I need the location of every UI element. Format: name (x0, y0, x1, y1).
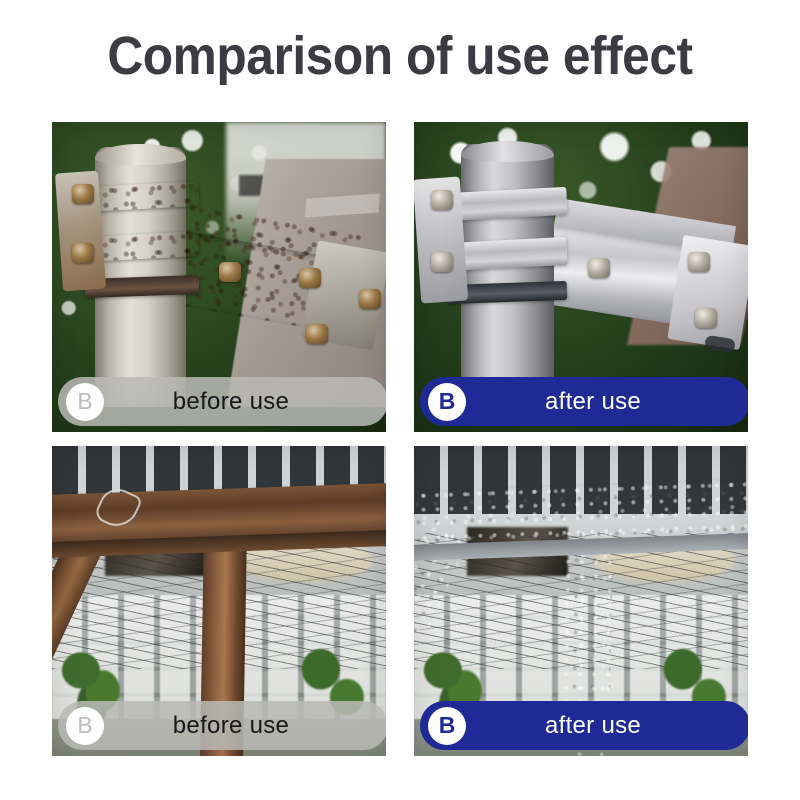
panel-top-left[interactable]: B before use (52, 122, 386, 432)
badge-initial-icon: B (428, 383, 466, 421)
panel-top-right[interactable]: B after use (414, 122, 748, 432)
comparison-grid: B before use B after use (52, 122, 748, 756)
badge-initial-icon: B (66, 707, 104, 745)
badge-before-use-bottom[interactable]: B before use (58, 701, 386, 750)
badge-label: before use (104, 712, 386, 740)
badge-after-use-top[interactable]: B after use (420, 377, 748, 426)
panel-bottom-right[interactable]: B after use (414, 446, 748, 756)
page-title: Comparison of use effect (32, 26, 768, 86)
badge-initial-icon: B (66, 383, 104, 421)
badge-label: after use (466, 712, 748, 740)
badge-label: before use (104, 388, 386, 416)
panel-bottom-left[interactable]: B before use (52, 446, 386, 756)
badge-label: after use (466, 388, 748, 416)
badge-after-use-bottom[interactable]: B after use (420, 701, 748, 750)
badge-initial-icon: B (428, 707, 466, 745)
badge-before-use-top[interactable]: B before use (58, 377, 386, 426)
